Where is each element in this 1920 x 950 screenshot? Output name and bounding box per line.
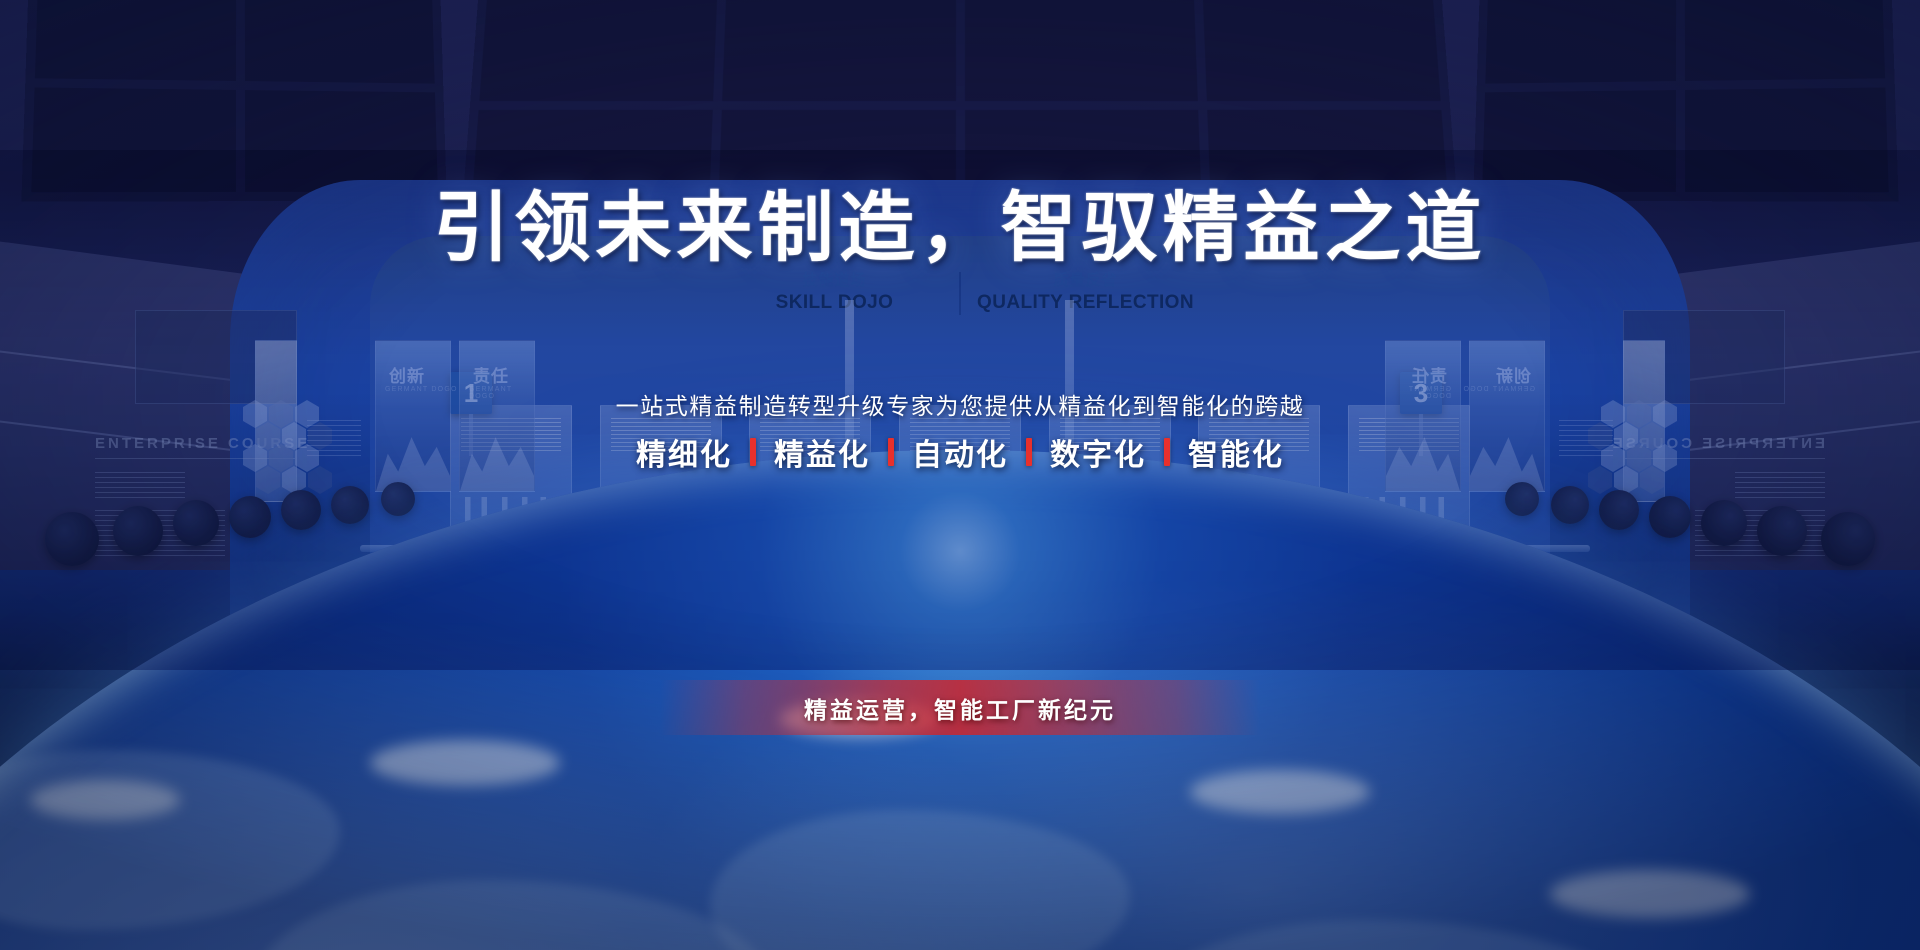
feature-item-5: 智能化 xyxy=(1188,430,1284,474)
feature-separator-icon xyxy=(1026,438,1032,466)
feature-list: 精细化 精益化 自动化 数字化 智能化 xyxy=(0,430,1920,474)
feature-separator-icon xyxy=(888,438,894,466)
feature-item-1: 精细化 xyxy=(636,430,732,474)
feature-item-2: 精益化 xyxy=(774,430,870,474)
hero-content: 引领未来制造，智驭精益之道 一站式精益制造转型升级专家为您提供从精益化到智能化的… xyxy=(0,0,1920,950)
feature-separator-icon xyxy=(750,438,756,466)
feature-item-3: 自动化 xyxy=(912,430,1008,474)
hero-banner: 技能道场 SKILL DOJO 质量反省 QUALITY REFLECTION xyxy=(0,0,1920,950)
tagline-text: 精益运营，智能工厂新纪元 xyxy=(804,691,1116,725)
feature-item-4: 数字化 xyxy=(1050,430,1146,474)
feature-separator-icon xyxy=(1164,438,1170,466)
hero-subtitle: 一站式精益制造转型升级专家为您提供从精益化到智能化的跨越 xyxy=(0,387,1920,421)
page-title: 引领未来制造，智驭精益之道 xyxy=(0,191,1920,267)
tagline-banner: 精益运营，智能工厂新纪元 xyxy=(660,680,1260,735)
